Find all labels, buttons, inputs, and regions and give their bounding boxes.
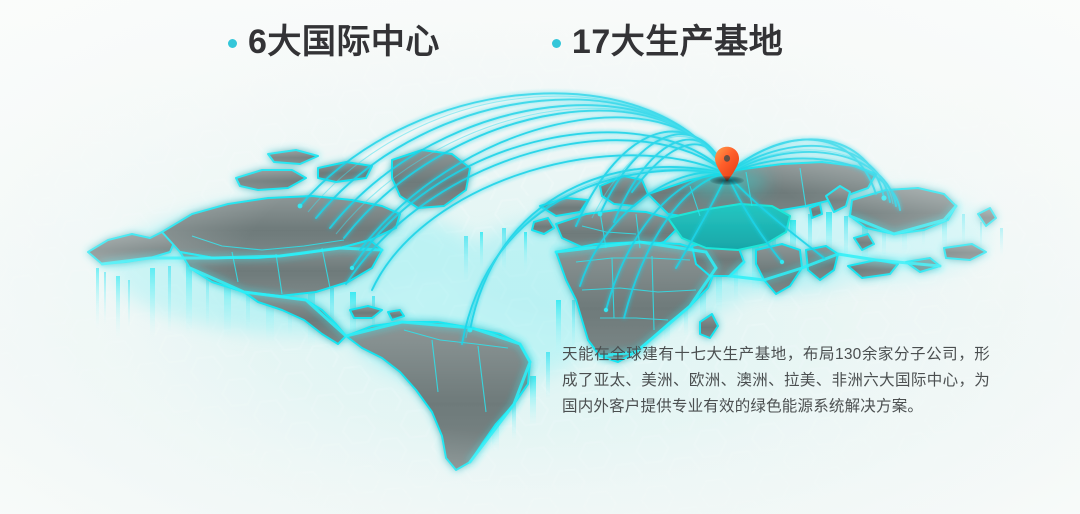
connection-arcs [300,93,900,344]
dot-icon [228,39,237,48]
heading-text-2: 17大生产基地 [572,22,783,63]
headings-row: 6大国际中心 17大生产基地 [0,22,1080,63]
pin-shadow [710,176,744,185]
description-text: 天能在全球建有十七大生产基地，布局130余家分子公司，形成了亚太、美洲、欧洲、澳… [562,342,990,420]
description-block: 天能在全球建有十七大生产基地，布局130余家分子公司，形成了亚太、美洲、欧洲、澳… [562,342,990,420]
coast-glow [102,206,956,462]
landmasses [88,150,996,470]
arc-endpoints [298,195,887,332]
vignette-overlay [0,0,1080,514]
dot-icon [552,39,561,48]
world-map [0,0,1080,514]
infographic-stage: 6大国际中心 17大生产基地 天能在全球建有十七大生产基地，布局130余家分子公… [0,0,1080,514]
hexagon-texture [0,0,1080,514]
heading-international-centers: 6大国际中心 [228,22,440,63]
connection-arcs-secondary [308,96,893,338]
map-pin-icon[interactable] [714,146,740,184]
heading-production-bases: 17大生产基地 [552,22,783,63]
heading-text-1: 6大国际中心 [248,22,440,63]
